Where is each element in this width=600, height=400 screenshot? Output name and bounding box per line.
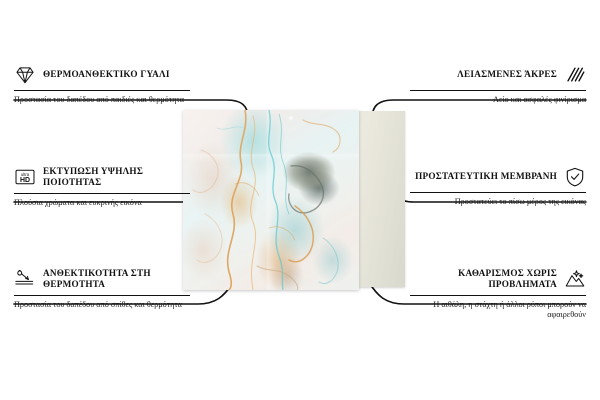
ultra-hd-icon-label-bottom: HD (20, 178, 30, 185)
feature-right-1-description: Προστατεύει το πίσω μέρος της εικόνας (410, 197, 586, 208)
feature-left-1-head: ultra HD ΕΚΤΥΠΩΣΗ ΥΨΗΛΗΣ ΠΟΙΟΤΗΤΑΣ (14, 166, 190, 189)
feature-right-0-head: ΛΕΙΑΣΜΕΝΕΣ ΆΚΡΕΣ (410, 64, 586, 86)
feature-right-0-rule (410, 90, 586, 91)
feature-right-1-rule (410, 192, 586, 193)
feature-left-1[interactable]: ultra HD ΕΚΤΥΠΩΣΗ ΥΨΗΛΗΣ ΠΟΙΟΤΗΤΑΣ Πλούσ… (14, 166, 190, 208)
feature-right-1[interactable]: ΠΡΟΣΤΑΤΕΥΤΙΚΗ ΜΕΜΒΡΑΝΗ Προστατεύει το πί… (410, 166, 586, 208)
feature-left-0-description: Προστασία του δαπέδου από παιδιές και θε… (14, 95, 190, 106)
feature-right-0-title: ΛΕΙΑΣΜΕΝΕΣ ΆΚΡΕΣ (457, 69, 557, 80)
feature-left-0-rule (14, 90, 190, 91)
feature-right-2-description: Η αιθάλη, η στάχτη ή άλλοι ρύποι μπορούν… (410, 300, 586, 321)
feature-left-2-rule (14, 295, 190, 296)
diamond-icon (14, 64, 36, 86)
marble-veins (183, 110, 359, 290)
product-glass-panel (183, 110, 359, 290)
feature-left-1-description: Πλούσια χρώματα και ευκρινής εικόνα (14, 198, 190, 209)
shield-check-icon (564, 166, 586, 188)
feature-left-2-description: Προστασία του δαπέδου από σπίθες και θερ… (14, 300, 190, 311)
product-image (183, 110, 417, 290)
feature-right-2[interactable]: ΚΑΘΑΡΙΣΜΟΣ ΧΩΡΙΣ ΠΡΟΒΛΗΜΑΤΑ Η αιθάλη, η … (410, 268, 586, 321)
feature-right-2-rule (410, 295, 586, 296)
sparkle-cloth-icon (564, 268, 586, 290)
feature-left-2[interactable]: ΑΝΘΕΚΤΙΚΟΤΗΤΑ ΣΤΗ ΘΕΡΜΟΤΗΤΑ Προστασία το… (14, 268, 190, 310)
feature-left-2-head: ΑΝΘΕΚΤΙΚΟΤΗΤΑ ΣΤΗ ΘΕΡΜΟΤΗΤΑ (14, 268, 190, 291)
feature-left-0-head: ΘΕΡΜΟΑΝΘΕΚΤΙΚΟ ΓΥΑΛΙ (14, 64, 190, 86)
ultra-hd-icon: ultra HD (14, 166, 36, 188)
feature-right-1-title: ΠΡΟΣΤΑΤΕΥΤΙΚΗ ΜΕΜΒΡΑΝΗ (415, 171, 557, 182)
feature-right-2-title: ΚΑΘΑΡΙΣΜΟΣ ΧΩΡΙΣ ΠΡΟΒΛΗΜΑΤΑ (410, 268, 557, 291)
feature-left-2-title: ΑΝΘΕΚΤΙΚΟΤΗΤΑ ΣΤΗ ΘΕΡΜΟΤΗΤΑ (43, 268, 190, 291)
feature-right-2-head: ΚΑΘΑΡΙΣΜΟΣ ΧΩΡΙΣ ΠΡΟΒΛΗΜΑΤΑ (410, 268, 586, 291)
feature-left-0[interactable]: ΘΕΡΜΟΑΝΘΕΚΤΙΚΟ ΓΥΑΛΙ Προστασία του δαπέδ… (14, 64, 190, 106)
feature-left-1-rule (14, 193, 190, 194)
feature-left-0-title: ΘΕΡΜΟΑΝΘΕΚΤΙΚΟ ΓΥΑΛΙ (43, 69, 170, 80)
flame-spark-icon (14, 268, 36, 290)
feature-right-0[interactable]: ΛΕΙΑΣΜΕΝΕΣ ΆΚΡΕΣ Λείο και ασφαλές φινίρι… (410, 64, 586, 106)
polished-edges-icon (564, 64, 586, 86)
infographic-canvas: ΘΕΡΜΟΑΝΘΕΚΤΙΚΟ ΓΥΑΛΙ Προστασία του δαπέδ… (0, 0, 600, 400)
feature-right-0-description: Λείο και ασφαλές φινίρισμα (410, 95, 586, 106)
feature-left-1-title: ΕΚΤΥΠΩΣΗ ΥΨΗΛΗΣ ΠΟΙΟΤΗΤΑΣ (43, 166, 190, 189)
feature-right-1-head: ΠΡΟΣΤΑΤΕΥΤΙΚΗ ΜΕΜΒΡΑΝΗ (410, 166, 586, 188)
